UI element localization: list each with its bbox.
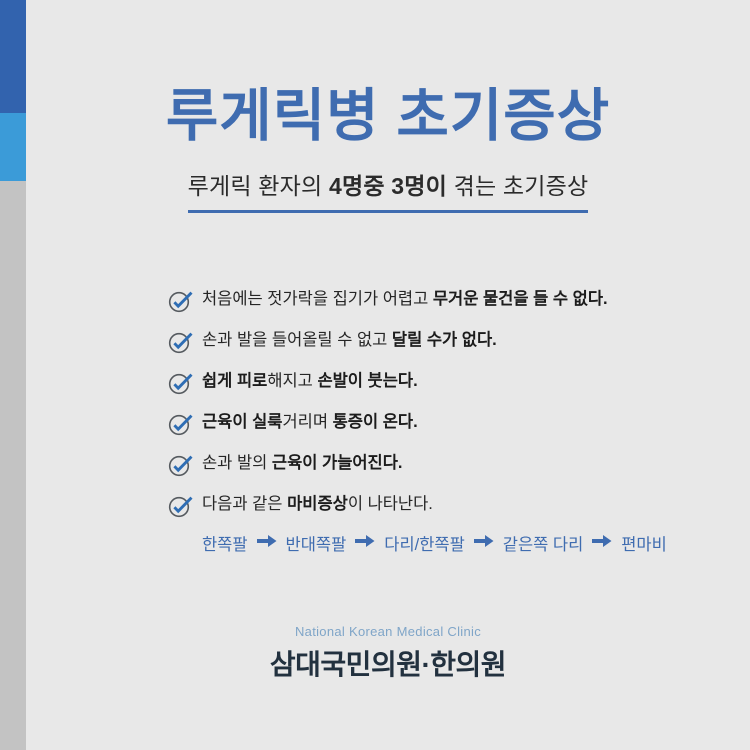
list-item-label: 손과 발의 근육이 가늘어진다. (202, 451, 403, 475)
symptom-list: 처음에는 젓가락을 집기가 어렵고 무거운 물건을 들 수 없다. 손과 발을 … (168, 287, 728, 533)
page-subtitle-part-bold: 4명중 3명이 (329, 173, 447, 199)
progression-stage-5: 편마비 (621, 531, 667, 555)
accent-segment-light-blue (0, 113, 26, 181)
arrow-right-icon (257, 534, 277, 552)
text-fragment: 손과 발을 들어올릴 수 없고 (202, 331, 392, 349)
clinic-name-english: National Korean Medical Clinic (26, 624, 750, 639)
list-item: 처음에는 젓가락을 집기가 어렵고 무거운 물건을 들 수 없다. (168, 287, 728, 328)
list-item: 다음과 같은 마비증상이 나타난다. (168, 492, 728, 533)
arrow-right-icon (355, 534, 375, 552)
list-item: 손과 발을 들어올릴 수 없고 달릴 수가 없다. (168, 328, 728, 369)
footer-logo: National Korean Medical Clinic 삼대국민의원·한의… (26, 624, 750, 683)
progression-stage-3: 다리/한쪽팔 (384, 531, 464, 555)
text-fragment: 해지고 (267, 372, 317, 390)
list-item: 손과 발의 근육이 가늘어진다. (168, 451, 728, 492)
text-fragment-bold: 근육이 실룩 (202, 413, 282, 431)
progression-stage-1: 한쪽팔 (202, 531, 248, 555)
text-fragment: 다음과 같은 (202, 495, 287, 513)
check-circle-icon (168, 453, 194, 477)
accent-segment-dark-blue (0, 0, 26, 113)
clinic-name-korean: 삼대국민의원·한의원 (26, 643, 750, 683)
subtitle-underline-wrap: 루게릭 환자의 4명중 3명이 겪는 초기증상 (188, 167, 589, 213)
list-item-label: 다음과 같은 마비증상이 나타난다. (202, 492, 433, 516)
list-item-label: 처음에는 젓가락을 집기가 어렵고 무거운 물건을 들 수 없다. (202, 287, 608, 311)
progression-stage-2: 반대쪽팔 (286, 531, 347, 555)
page-subtitle-part: 겪는 초기증상 (447, 173, 588, 199)
text-fragment-bold: 통증이 온다. (333, 413, 418, 431)
list-item-label: 손과 발을 들어올릴 수 없고 달릴 수가 없다. (202, 328, 497, 352)
text-fragment-bold: 근육이 가늘어진다. (272, 454, 403, 472)
check-circle-icon (168, 494, 194, 518)
list-item-label: 쉽게 피로해지고 손발이 붓는다. (202, 369, 418, 393)
heading-block: 루게릭병 초기증상 루게릭 환자의 4명중 3명이 겪는 초기증상 (26, 88, 750, 213)
text-fragment-bold: 마비증상 (287, 495, 348, 513)
check-circle-icon (168, 289, 194, 313)
text-fragment-bold: 쉽게 피로 (202, 372, 267, 390)
text-fragment: 이 나타난다. (348, 495, 433, 513)
check-circle-icon (168, 330, 194, 354)
left-accent-bar (0, 0, 26, 750)
text-fragment: 처음에는 젓가락을 집기가 어렵고 (202, 290, 433, 308)
page-subtitle: 루게릭 환자의 4명중 3명이 겪는 초기증상 (188, 167, 589, 201)
text-fragment: 거리며 (282, 413, 332, 431)
paralysis-progression-chain: 한쪽팔 반대쪽팔 다리/한쪽팔 같은쪽 다리 편마비 (202, 531, 667, 555)
text-fragment-bold: 달릴 수가 없다. (392, 331, 497, 349)
check-circle-icon (168, 412, 194, 436)
page-subtitle-part: 루게릭 환자의 (188, 173, 329, 199)
arrow-right-icon (474, 534, 494, 552)
text-fragment-bold: 무거운 물건을 들 수 없다. (433, 290, 608, 308)
progression-stage-4: 같은쪽 다리 (503, 531, 583, 555)
list-item: 근육이 실룩거리며 통증이 온다. (168, 410, 728, 451)
page-title: 루게릭병 초기증상 (26, 88, 750, 145)
check-circle-icon (168, 371, 194, 395)
list-item: 쉽게 피로해지고 손발이 붓는다. (168, 369, 728, 410)
accent-segment-gray (0, 181, 26, 750)
text-fragment: 손과 발의 (202, 454, 272, 472)
text-fragment-bold: 손발이 붓는다. (317, 372, 417, 390)
infographic-card: 루게릭병 초기증상 루게릭 환자의 4명중 3명이 겪는 초기증상 처음에는 젓… (0, 0, 750, 750)
arrow-right-icon (592, 534, 612, 552)
list-item-label: 근육이 실룩거리며 통증이 온다. (202, 410, 418, 434)
